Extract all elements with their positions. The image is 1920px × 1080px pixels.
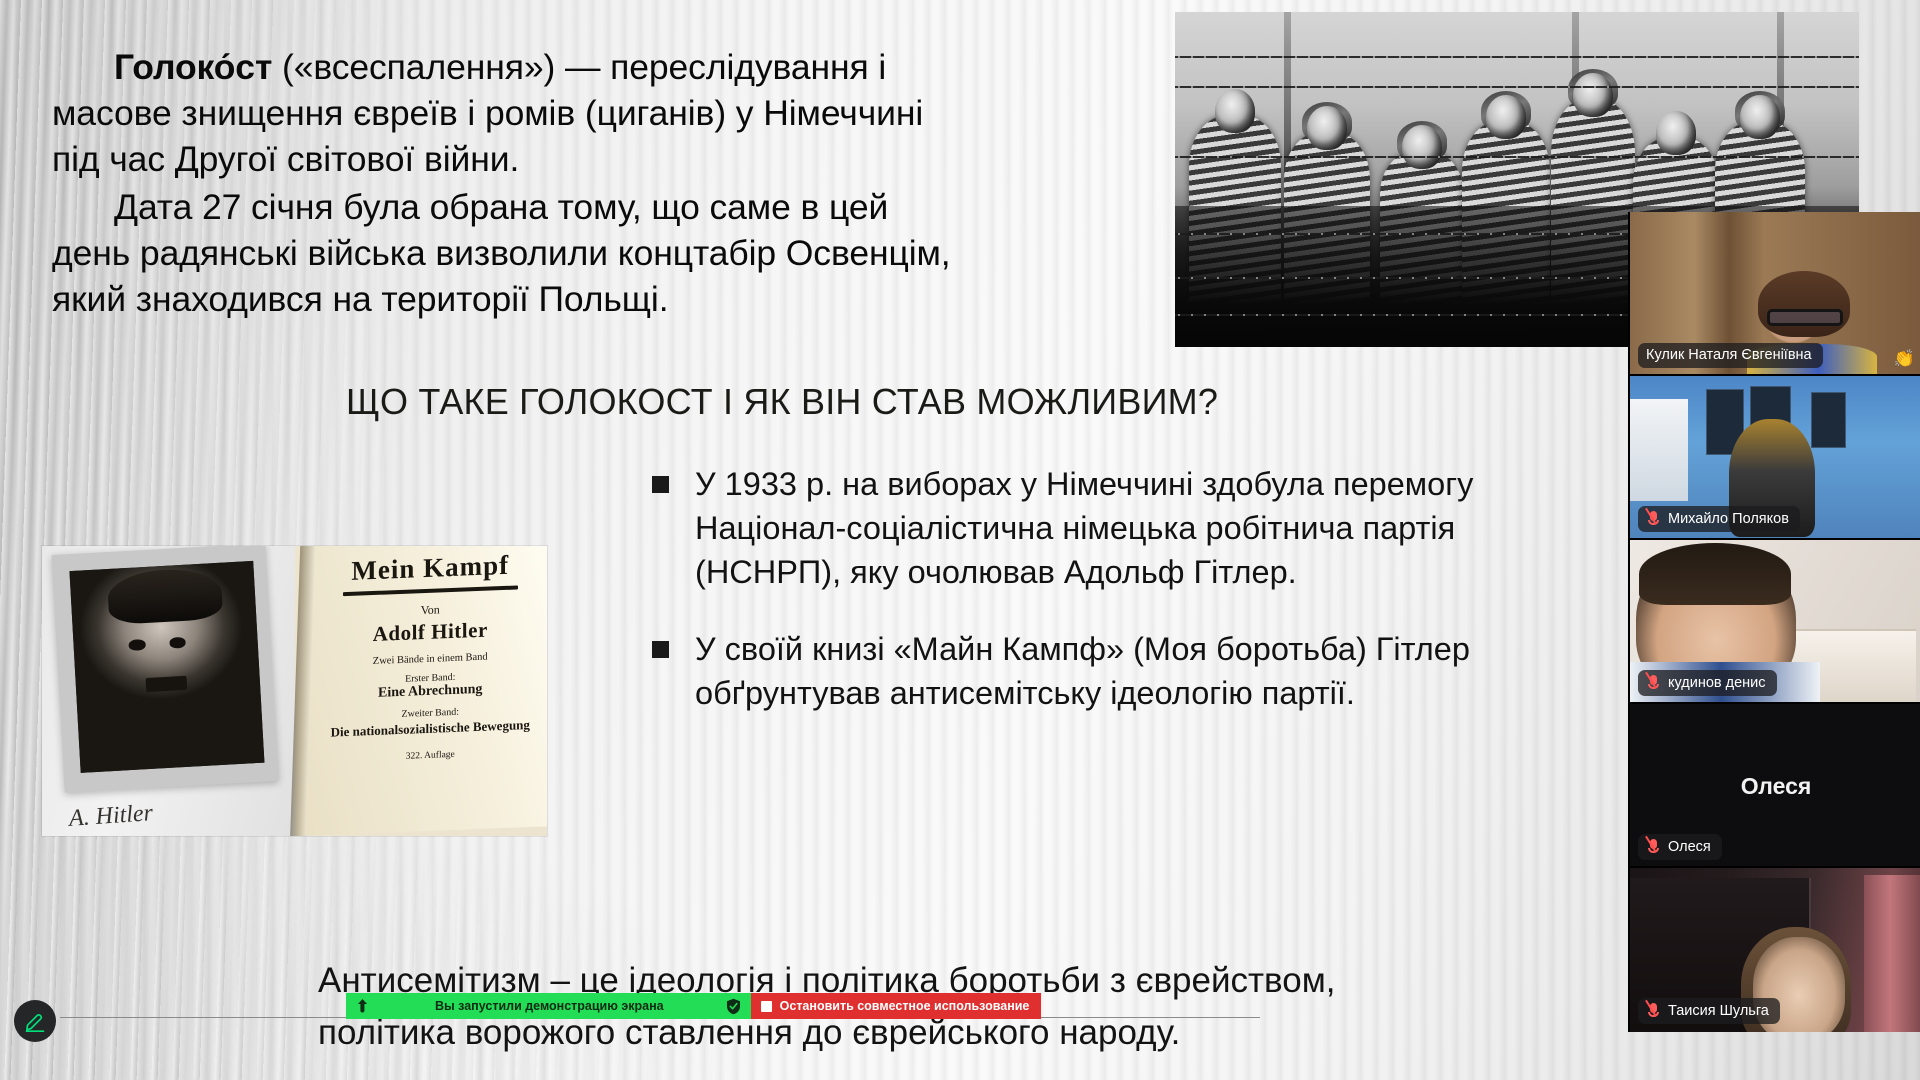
portrait-signature: A. Hitler	[68, 800, 154, 833]
barbed-wire-line	[1175, 156, 1859, 158]
book-subtitle: Zwei Bände in einem Band	[321, 650, 540, 669]
child-head	[1486, 95, 1526, 139]
list-item-text: У 1933 р. на виборах у Німеччині здобула…	[695, 462, 1473, 594]
participant-name: Олеся	[1668, 839, 1711, 855]
mic-muted-icon	[1646, 674, 1661, 691]
bullet-1-line-1: У 1933 р. на виборах у Німеччині здобула…	[695, 466, 1473, 502]
video-tile-kulyk[interactable]: Кулик Наталя Євгеніївна 👏	[1630, 212, 1920, 376]
bullet-2-line-1: У своїй книзі «Майн Кампф» (Моя боротьба…	[695, 631, 1470, 667]
participant-hair	[1639, 543, 1791, 605]
barbed-wire-line	[1175, 86, 1859, 88]
child-head	[1215, 89, 1255, 133]
book-title-rule	[343, 585, 518, 596]
mic-muted-icon	[1646, 1002, 1661, 1019]
video-tile-poliakov[interactable]: Михайло Поляков	[1630, 376, 1920, 540]
book-edition: 322. Auflage	[321, 747, 540, 765]
share-arrow-icon	[356, 998, 369, 1014]
portrait-hair	[107, 566, 224, 625]
term-holocaust: Голоко́ст	[114, 47, 272, 87]
child-head	[1307, 106, 1347, 150]
barbed-wire-line	[1175, 56, 1859, 58]
portrait-eye-left	[129, 639, 146, 650]
intro-text-block: Голоко́ст («всеспалення») — переслідуван…	[52, 44, 967, 322]
square-bullet-icon	[652, 476, 669, 493]
share-status-section[interactable]: Вы запустили демонстрацию экрана	[346, 993, 751, 1019]
video-tile-shulha[interactable]: Таисия Шульга	[1630, 868, 1920, 1032]
participant-glasses	[1767, 309, 1843, 326]
stop-square-icon	[761, 1001, 772, 1012]
annotate-pencil-button[interactable]	[14, 1000, 56, 1042]
intro-paragraph-2: Дата 27 січня була обрана тому, що саме …	[52, 184, 967, 322]
video-tile-olesia[interactable]: Олеся Олеся	[1630, 704, 1920, 868]
share-status-label: Вы запустили демонстрацию экрана	[435, 999, 664, 1013]
list-item-text: У своїй книзі «Майн Кампф» (Моя боротьба…	[695, 627, 1470, 715]
page-title: ЩО ТАКЕ ГОЛОКОСТ І ЯК ВІН СТАВ МОЖЛИВИМ?	[346, 381, 1218, 423]
hitler-portrait-frame	[52, 546, 279, 792]
book-title: Mein Kampf	[321, 549, 540, 588]
intro-paragraph-1: Голоко́ст («всеспалення») — переслідуван…	[52, 44, 967, 182]
participant-video-strip[interactable]: Кулик Наталя Євгеніївна 👏 Михайло Поляко…	[1628, 212, 1920, 1032]
child-head	[1573, 73, 1613, 117]
background-window	[1630, 399, 1688, 501]
list-item: У своїй книзі «Майн Кампф» (Моя боротьба…	[652, 627, 1452, 715]
stop-sharing-button[interactable]: Остановить совместное использование	[751, 993, 1042, 1019]
child-head	[1402, 125, 1442, 169]
participant-hair	[1758, 271, 1850, 337]
wall-poster	[1811, 392, 1846, 448]
hitler-portrait	[70, 560, 265, 772]
video-tile-kudinov[interactable]: кудинов денис	[1630, 540, 1920, 704]
participant-name-chip: Кулик Наталя Євгеніївна	[1638, 343, 1823, 368]
pencil-icon	[23, 1009, 47, 1033]
participant-name-chip: Михайло Поляков	[1638, 506, 1800, 532]
participant-name-chip: Олеся	[1638, 834, 1722, 860]
list-item: У 1933 р. на виборах у Німеччині здобула…	[652, 462, 1452, 594]
mic-muted-icon	[1646, 838, 1661, 855]
reaction-emoji: 👏	[1894, 349, 1915, 369]
stop-sharing-label: Остановить совместное использование	[780, 999, 1030, 1013]
bullet-1-line-3: (НСНРП), яку очолював Адольф Гітлер.	[695, 554, 1297, 590]
participant-name-chip: кудинов денис	[1638, 670, 1777, 696]
screen-share-control-bar[interactable]: Вы запустили демонстрацию экрана Останов…	[346, 993, 1041, 1019]
screen-share-stage: Голоко́ст («всеспалення») — переслідуван…	[0, 0, 1920, 1080]
participant-name-chip: Таисия Шульга	[1638, 998, 1780, 1024]
participant-name: Кулик Наталя Євгеніївна	[1646, 347, 1812, 363]
child-head	[1656, 111, 1696, 155]
bullet-list: У 1933 р. на виборах у Німеччині здобула…	[652, 462, 1452, 715]
shield-icon	[726, 998, 741, 1015]
bullet-1-line-2: Націонал-соціалістична німецька робітнич…	[695, 510, 1455, 546]
child-head	[1740, 95, 1780, 139]
book-left-page: A. Hitler	[42, 546, 310, 836]
photo-mein-kampf-book: A. Hitler Mein Kampf Von Adolf Hitler Zw…	[42, 546, 547, 836]
mic-muted-icon	[1646, 510, 1661, 527]
background-curtain	[1864, 875, 1920, 1032]
participant-name: кудинов денис	[1668, 675, 1766, 691]
square-bullet-icon	[652, 641, 669, 658]
bullet-2-line-2: обґрунтував антисемітську ідеологію парт…	[695, 675, 1355, 711]
portrait-moustache	[146, 676, 187, 692]
participant-name: Таисия Шульга	[1668, 1003, 1769, 1019]
book-title-page: Mein Kampf Von Adolf Hitler Zwei Bände i…	[295, 546, 548, 836]
participant-name: Михайло Поляков	[1668, 511, 1789, 527]
portrait-eye-right	[169, 637, 186, 648]
